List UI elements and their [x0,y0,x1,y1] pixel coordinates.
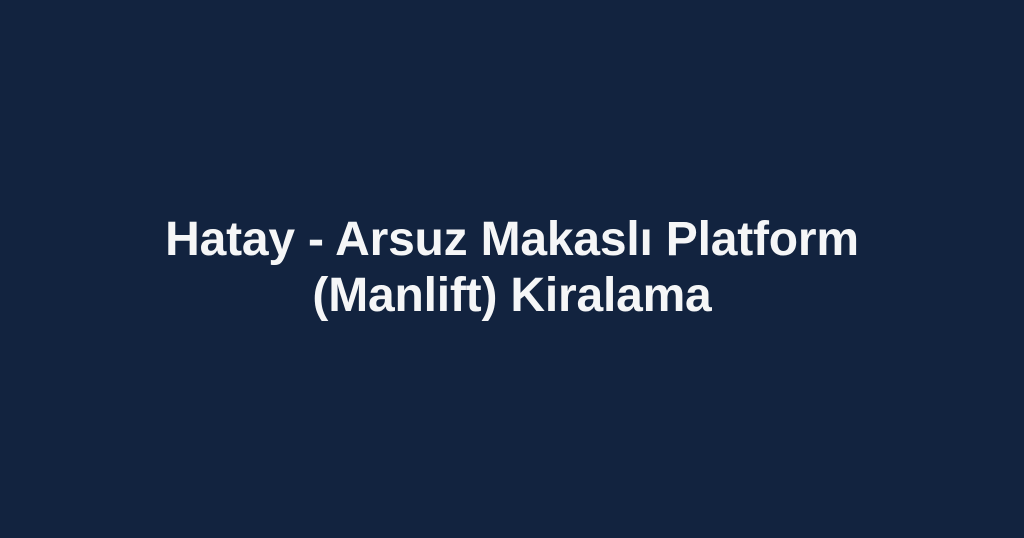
title-block: Hatay - Arsuz Makaslı Platform (Manlift)… [152,212,872,324]
page-title: Hatay - Arsuz Makaslı Platform (Manlift)… [152,212,872,324]
share-card: Hatay - Arsuz Makaslı Platform (Manlift)… [0,0,1024,538]
